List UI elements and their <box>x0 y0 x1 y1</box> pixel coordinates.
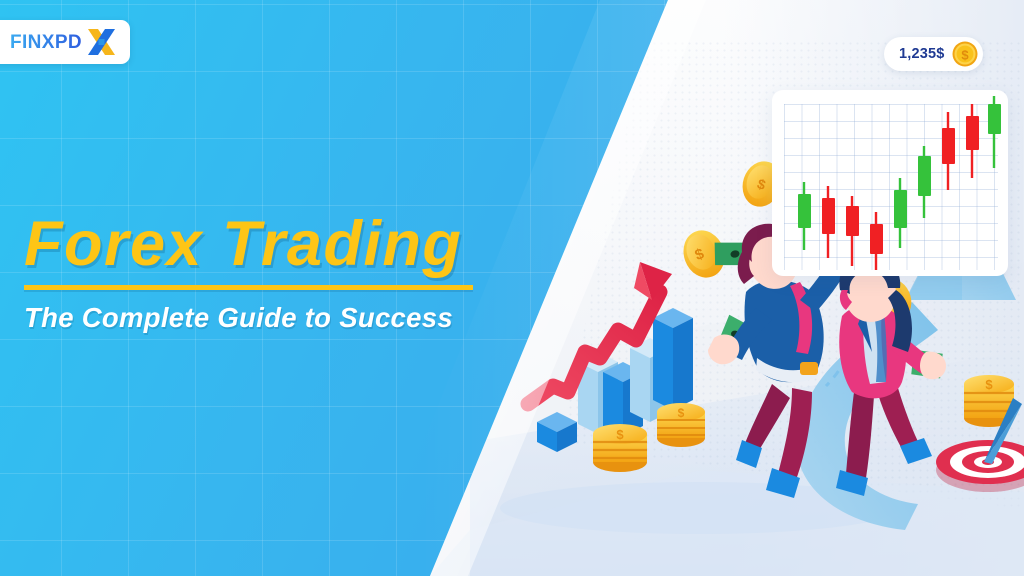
candle-2 <box>822 186 835 258</box>
candle-3 <box>846 196 859 266</box>
candlestick-chart-card <box>772 90 1008 276</box>
candle-9 <box>988 96 1001 168</box>
page-subtitle: The Complete Guide to Success <box>24 302 494 334</box>
candle-4 <box>870 212 883 270</box>
candle-5 <box>894 178 907 248</box>
candlestick-series <box>772 90 1008 276</box>
candle-1 <box>798 182 811 250</box>
candle-6 <box>918 146 931 218</box>
page-title: Forex Trading <box>24 212 494 276</box>
brand-name: FINXPD <box>10 33 82 52</box>
dollar-coin-icon: $ <box>952 41 978 67</box>
candle-7 <box>942 112 955 190</box>
price-badge: 1,235$ $ <box>884 37 983 71</box>
price-amount: 1,235$ <box>899 46 945 62</box>
poster-canvas: $ $ $ <box>0 0 1024 576</box>
brand-x-icon <box>85 26 118 58</box>
brand-logo[interactable]: FINXPD <box>0 20 130 64</box>
candle-8 <box>966 104 979 178</box>
hero-text-block: Forex Trading The Complete Guide to Succ… <box>24 212 494 334</box>
svg-text:$: $ <box>961 47 969 62</box>
title-underline <box>24 285 473 290</box>
